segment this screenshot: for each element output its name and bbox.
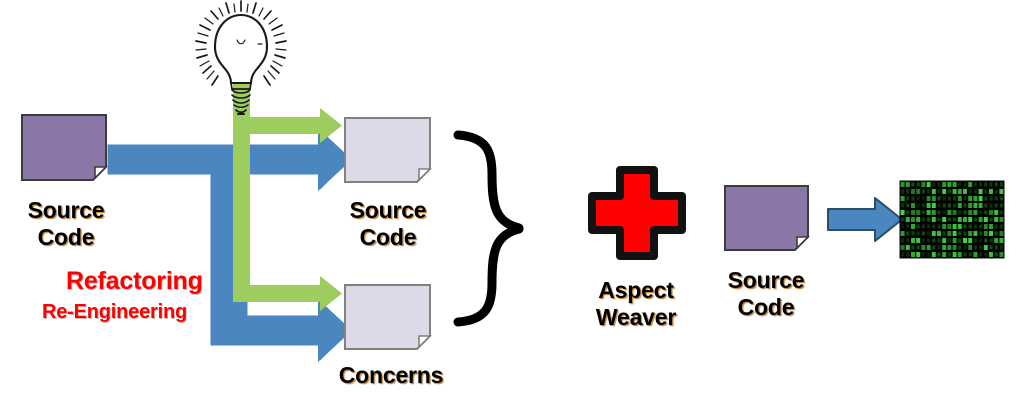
label-line-1: Aspect [575,277,697,304]
curly-brace [458,135,519,322]
plus-cross-icon [592,170,682,256]
label-aspect-weaver: Aspect Weaver [575,277,697,331]
diagram-graphics-layer [0,0,1028,420]
label-input-source-code: Source Code [14,197,118,251]
label-line-2: Code [336,224,440,251]
label-output-concerns: Concerns [326,362,456,389]
document-output-concerns [345,285,430,349]
label-line-2: Code [714,294,818,321]
label-line-1: Source [336,197,440,224]
blue-fork-arrow [108,131,349,359]
document-woven-source-code [725,186,808,250]
annotation-refactoring: Refactoring [66,267,203,297]
label-output-source-code: Source Code [336,197,440,251]
document-input-source-code [22,115,106,180]
label-line-2: Code [14,224,118,251]
diagram-canvas: Source Code Source Code Concerns Aspect … [0,0,1028,420]
document-output-source-code [345,118,430,182]
label-line-2: Weaver [575,304,697,331]
label-line-1: Source [14,197,118,224]
green-fork-arrow [233,84,342,311]
binary-code-icon [900,181,1004,258]
annotation-reengineering: Re-Engineering [42,301,187,325]
label-woven-source-code: Source Code [714,267,818,321]
label-line-1: Source [714,267,818,294]
label-line-1: Concerns [326,362,456,389]
compile-arrow [828,198,902,241]
